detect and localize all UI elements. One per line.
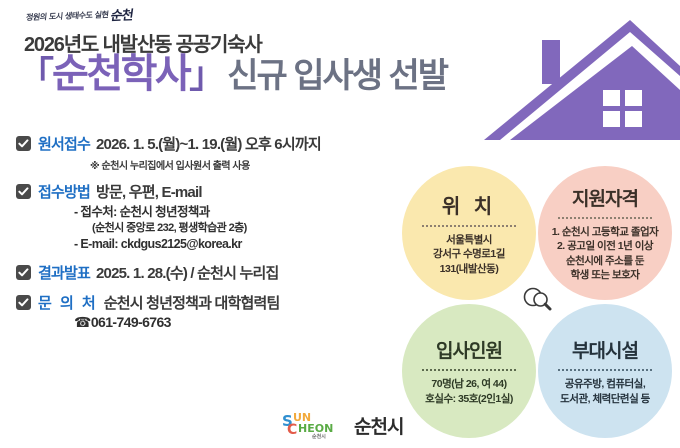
bracket-open: 「 [18, 57, 52, 93]
city-slogan-text: 정원의 도시 생태수도 실현 [25, 9, 108, 23]
checklist-label-contact: 문 의 처 [38, 292, 98, 313]
info-circle-facility-line1: 공유주방, 컴퓨터실, [565, 377, 646, 391]
magnifier-icon [520, 284, 554, 318]
checklist-item-contact: 문 의 처 순천시 청년정책과 대학협력팀 ☎061-749-6763 [16, 292, 416, 331]
divider [558, 217, 652, 219]
city-slogan-mark: 정원의 도시 생태수도 실현 순천 [26, 2, 147, 28]
info-circle-facility-line2: 도서관, 체력단련실 등 [560, 392, 650, 406]
checklist-item-result: 결과발표 2025. 1. 28.(수) / 순천시 누리집 [16, 262, 416, 283]
check-icon [16, 184, 31, 199]
check-icon [16, 295, 31, 310]
checklist-value-method: 방문, 우편, E-mail [96, 181, 202, 202]
house-icon [480, 18, 680, 148]
checklist-sub-method-line1: - 접수처: 순천시 청년정책과 [74, 204, 416, 221]
title-main: 순천학사 [52, 54, 189, 94]
checklist-value-application: 2026. 1. 5.(월)~1. 19.(월) 오후 6시까지 [96, 133, 321, 154]
checklist-value-result: 2025. 1. 28.(수) / 순천시 누리집 [96, 262, 279, 283]
logo-letter-c: C [287, 422, 297, 438]
contact-phone: ☎061-749-6763 [74, 314, 416, 331]
check-icon [16, 265, 31, 280]
check-icon [16, 136, 31, 151]
info-circle-capacity-line2: 호실수: 35호(2인1실) [425, 392, 513, 406]
suncheon-logo: S UN C HEON 순천시 [282, 410, 346, 440]
checklist-label-result: 결과발표 [38, 262, 90, 283]
info-circle-capacity: 입사인원 70명(남 26, 여 44) 호실수: 35호(2인1실) [402, 304, 536, 438]
poster-title: 「 순천학사 」 신규 입사생 선발 [18, 54, 447, 94]
checklist-sub-method-line3: - E-mail: ckdgus2125@korea.kr [74, 236, 416, 253]
info-circle-location-line3: 131(내발산동) [440, 262, 499, 276]
checklist-sub-method-line2: (순천시 중앙로 232, 평생학습관 2층) [74, 221, 416, 236]
info-circle-eligibility-line4: 학생 또는 보호자 [571, 268, 640, 282]
info-circle-facility-title: 부대시설 [572, 336, 638, 363]
info-circle-facility: 부대시설 공유주방, 컴퓨터실, 도서관, 체력단련실 등 [538, 304, 672, 438]
info-circle-capacity-line1: 70명(남 26, 여 44) [431, 377, 506, 391]
info-circle-eligibility-line3: 순천시에 주소를 둔 [566, 254, 644, 268]
info-circle-eligibility: 지원자격 1. 순천시 고등학교 졸업자 2. 공고일 이전 1년 이상 순천시… [538, 166, 672, 300]
info-circle-location-line2: 강서구 수명로1길 [433, 247, 505, 261]
info-circle-eligibility-title: 지원자격 [572, 184, 638, 211]
poster-root: 정원의 도시 생태수도 실현 순천 2026년도 내발산동 공공기숙사 「 순천… [0, 0, 680, 448]
footer: S UN C HEON 순천시 순천시 [282, 410, 403, 440]
divider [422, 369, 516, 371]
checklist-note-application: ※ 순천시 누리집에서 입사원서 출력 사용 [90, 157, 416, 172]
checklist-label-method: 접수방법 [38, 181, 90, 202]
info-circle-eligibility-line2: 2. 공고일 이전 1년 이상 [557, 239, 653, 253]
info-circle-location-line1: 서울특별시 [446, 233, 492, 247]
divider [558, 369, 652, 371]
checklist-item-method: 접수방법 방문, 우편, E-mail - 접수처: 순천시 청년정책과 (순천… [16, 181, 416, 253]
footer-city-name: 순천시 [354, 412, 403, 439]
checklist-label-application: 원서접수 [38, 133, 90, 154]
checklist-item-application: 원서접수 2026. 1. 5.(월)~1. 19.(월) 오후 6시까지 ※ … [16, 133, 416, 172]
checklist-sub-method: - 접수처: 순천시 청년정책과 (순천시 중앙로 232, 평생학습관 2층)… [74, 204, 416, 253]
info-circle-capacity-title: 입사인원 [436, 336, 502, 363]
title-sub: 신규 입사생 선발 [227, 59, 447, 93]
divider [422, 225, 516, 227]
city-mark-name: 순천 [110, 4, 135, 24]
logo-subtext: 순천시 [312, 433, 326, 440]
checklist: 원서접수 2026. 1. 5.(월)~1. 19.(월) 오후 6시까지 ※ … [16, 133, 416, 340]
info-circle-location-title: 위 치 [442, 190, 496, 219]
bracket-close: 」 [189, 57, 223, 93]
info-circle-eligibility-line1: 1. 순천시 고등학교 졸업자 [552, 225, 659, 239]
checklist-value-contact: 순천시 청년정책과 대학협력팀 [104, 292, 280, 313]
